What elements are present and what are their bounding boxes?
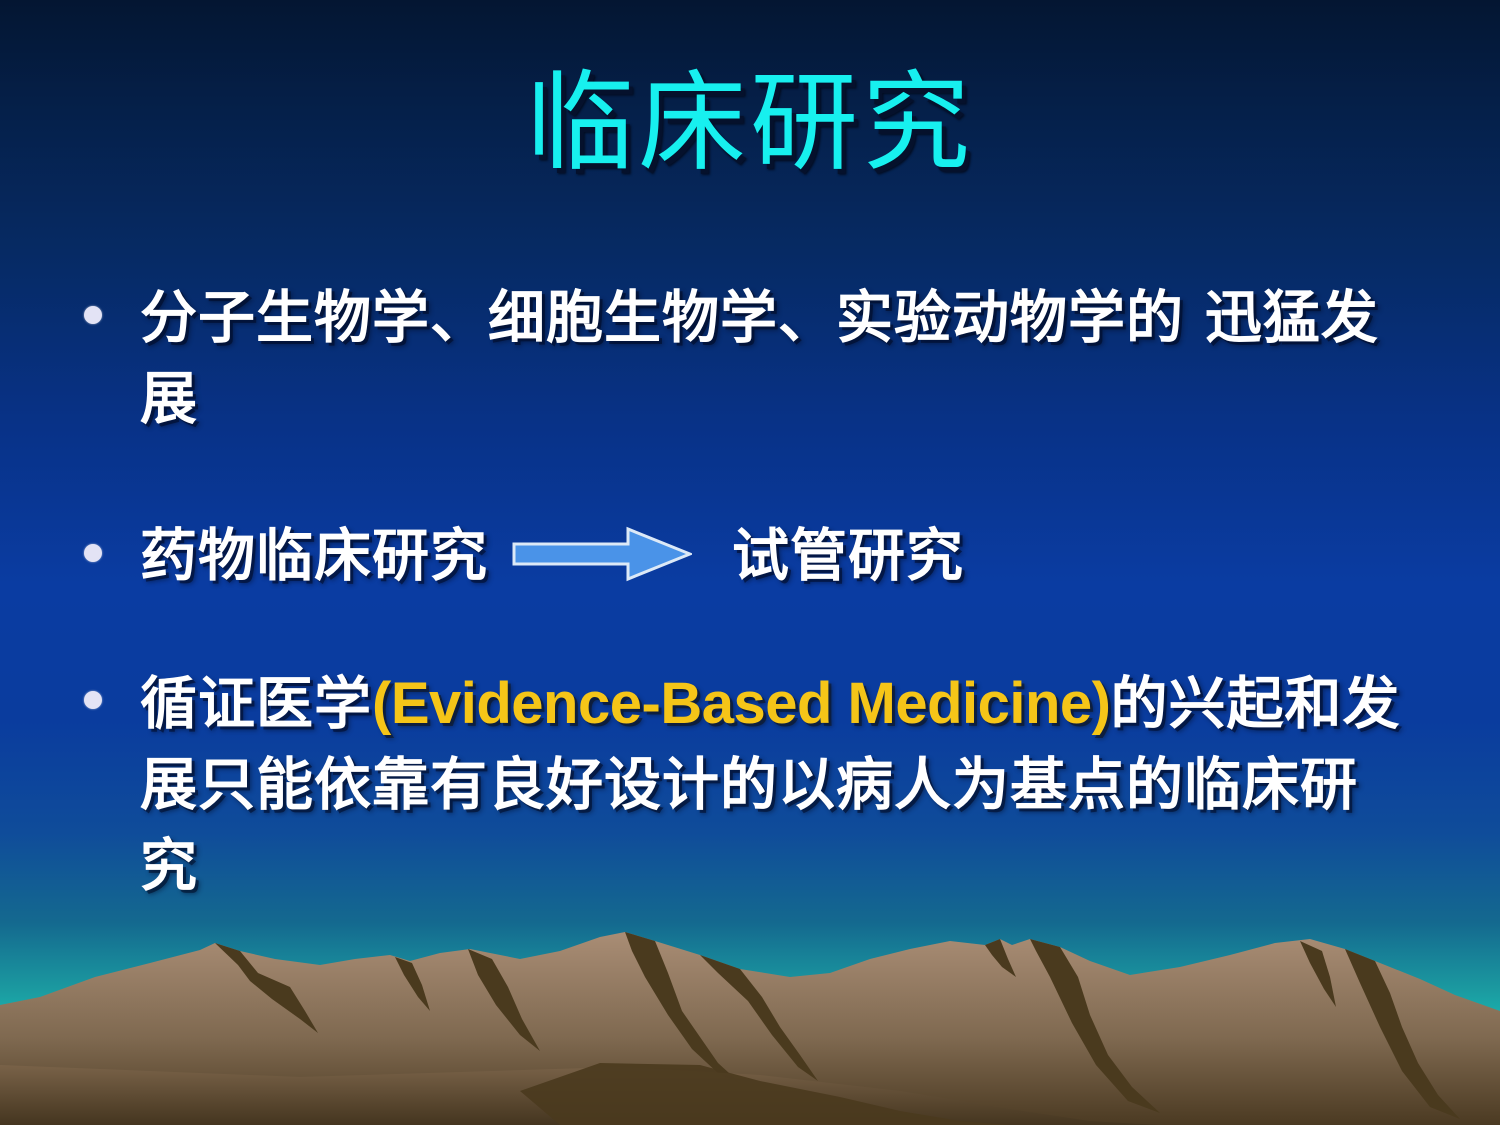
- bullet-3-lead-cn: 循证医学: [140, 671, 372, 737]
- bullet-3-text: 循证医学(Evidence-Based Medicine)的兴起和发展只能依靠有…: [140, 663, 1414, 907]
- bullet-2-after-arrow: 试管研究: [732, 523, 964, 589]
- bullet-2-before-arrow: 药物临床研究: [140, 523, 488, 589]
- mountain-range-silhouette: [0, 915, 1500, 1125]
- bullet-dot-icon: [84, 544, 102, 562]
- list-item: 分子生物学、细胞生物学、实验动物学的 迅猛发展: [84, 278, 1414, 440]
- bullet-list: 分子生物学、细胞生物学、实验动物学的 迅猛发展 药物临床研究 试管研究 循证医学…: [84, 278, 1414, 907]
- bullet-2-text: 药物临床研究 试管研究: [140, 516, 1414, 597]
- list-item: 药物临床研究 试管研究: [84, 516, 1414, 597]
- bullet-3-highlight-en: (Evidence-Based Medicine): [372, 671, 1111, 736]
- right-block-arrow-icon: [512, 526, 692, 582]
- bullet-dot-icon: [84, 691, 102, 709]
- slide-canvas: 临床研究 分子生物学、细胞生物学、实验动物学的 迅猛发展 药物临床研究 试管研究: [0, 0, 1500, 1125]
- page-title: 临床研究: [0, 66, 1500, 183]
- list-item: 循证医学(Evidence-Based Medicine)的兴起和发展只能依靠有…: [84, 663, 1414, 907]
- bullet-dot-icon: [84, 306, 102, 324]
- bullet-1-text: 分子生物学、细胞生物学、实验动物学的 迅猛发展: [140, 278, 1414, 440]
- bullet-1-line-1: 分子生物学、细胞生物学、实验动物学的: [140, 285, 1184, 351]
